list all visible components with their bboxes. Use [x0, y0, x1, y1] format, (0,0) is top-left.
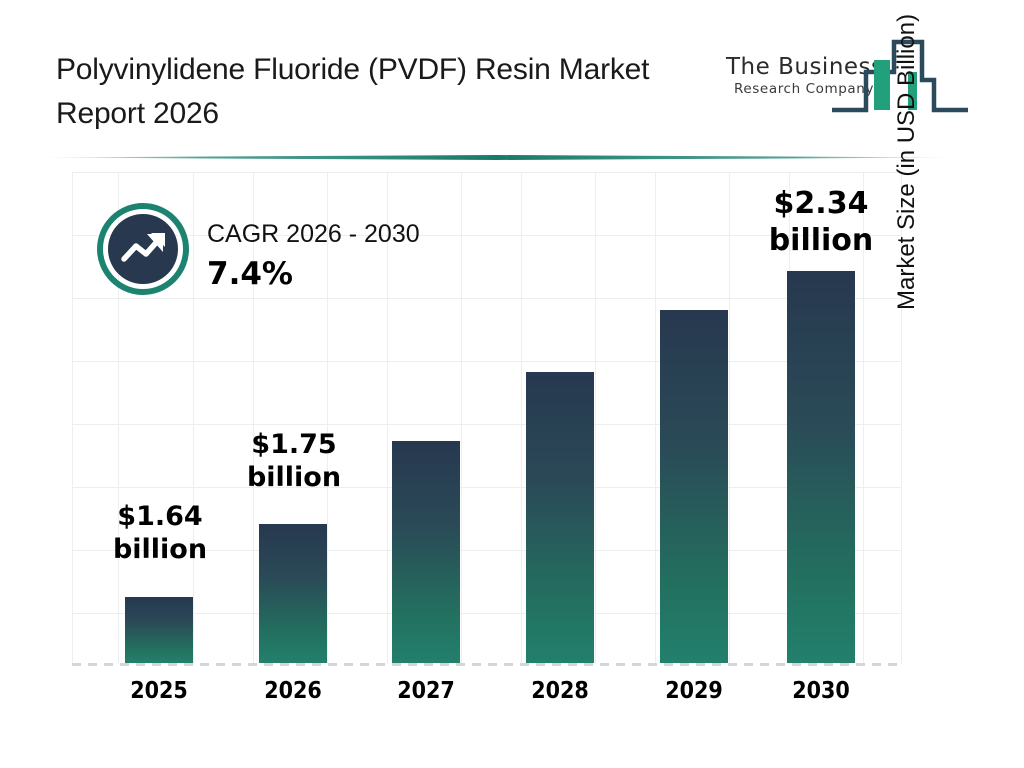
cagr-period-label: CAGR 2026 - 2030	[207, 220, 420, 249]
x-tick-2029: 2029	[654, 678, 734, 704]
bar-2030[interactable]	[787, 271, 855, 663]
header: Polyvinylidene Fluoride (PVDF) Resin Mar…	[0, 0, 1024, 150]
bar-value-label-2026: $1.75 billion	[224, 428, 364, 494]
x-tick-2025: 2025	[119, 678, 199, 704]
bar-2025[interactable]	[125, 597, 193, 663]
bar-2029[interactable]	[660, 310, 728, 663]
gridline-horizontal	[72, 424, 902, 425]
gridline-horizontal	[72, 613, 902, 614]
x-tick-2027: 2027	[386, 678, 466, 704]
gridline-vertical	[193, 172, 194, 664]
gridline-horizontal	[72, 487, 902, 488]
gridline-horizontal	[72, 361, 902, 362]
bar-value-label-2030: $2.34 billion	[751, 185, 891, 259]
gridline-horizontal	[72, 172, 902, 173]
page-title: Polyvinylidene Fluoride (PVDF) Resin Mar…	[56, 48, 716, 136]
axis-baseline	[72, 663, 902, 666]
bar-value-label-2025: $1.64 billion	[90, 500, 230, 566]
gridline-vertical	[521, 172, 522, 664]
chart-page: Polyvinylidene Fluoride (PVDF) Resin Mar…	[0, 0, 1024, 768]
header-divider	[32, 155, 962, 160]
bar-2027[interactable]	[392, 441, 460, 663]
x-tick-2026: 2026	[253, 678, 333, 704]
gridline-vertical	[595, 172, 596, 664]
x-tick-2028: 2028	[520, 678, 600, 704]
gridline-vertical	[461, 172, 462, 664]
gridline-vertical	[655, 172, 656, 664]
bar-2026[interactable]	[259, 524, 327, 663]
cagr-value-label: 7.4%	[207, 256, 293, 292]
gridline-horizontal	[72, 298, 902, 299]
cagr-circle-icon	[97, 203, 189, 295]
x-tick-2030: 2030	[781, 678, 861, 704]
bar-2028[interactable]	[526, 372, 594, 663]
logo: The Business Research Company	[722, 32, 972, 132]
gridline-vertical	[729, 172, 730, 664]
y-axis-title: Market Size (in USD Billion)	[893, 0, 933, 310]
gridline-vertical	[72, 172, 73, 664]
